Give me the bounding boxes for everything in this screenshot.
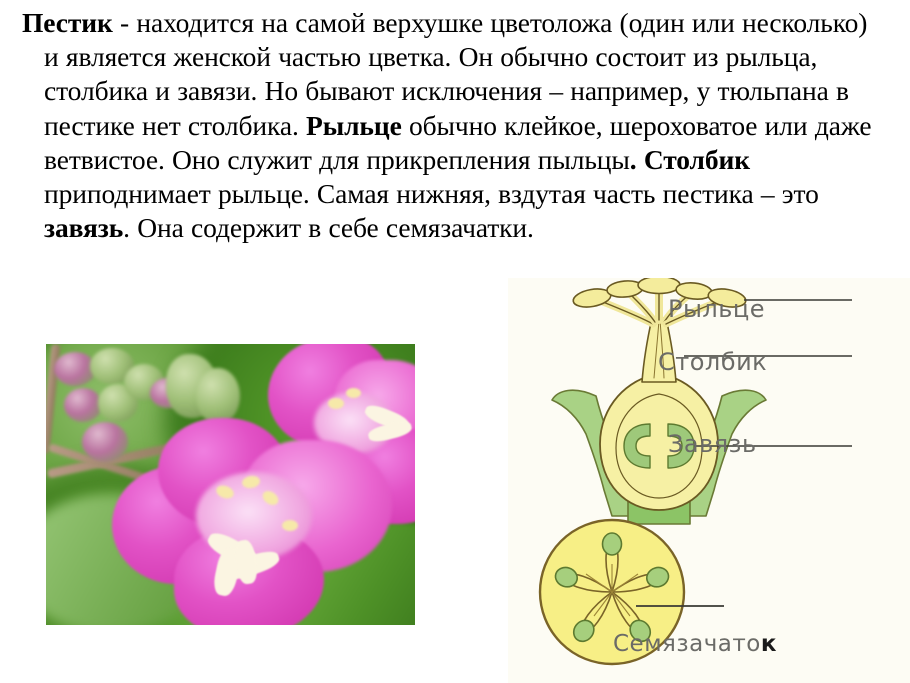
ovule-cross-section-svg — [508, 510, 910, 683]
label-ovary: Завязь — [668, 430, 757, 458]
photo-bud-3 — [64, 388, 102, 422]
label-ovule-main: Семязачато — [613, 631, 761, 657]
slide-canvas: Пестик - находится на самой верхушке цве… — [0, 0, 910, 683]
paragraph-run-2: Рыльце — [306, 110, 402, 141]
lesson-paragraph: Пестик - находится на самой верхушке цве… — [22, 6, 882, 245]
photo-bud-9 — [196, 368, 240, 424]
paragraph-run-4: . Столбик — [630, 144, 750, 175]
photo-bud-5 — [82, 422, 128, 462]
paragraph-run-7: . Она содержит в себе семязачатки. — [123, 212, 534, 243]
paragraph-run-6: завязь — [44, 212, 123, 243]
label-ovule: Семязачаток — [613, 631, 777, 657]
label-style: Столбик — [658, 348, 767, 376]
stigma-head-3 — [638, 278, 680, 294]
pistil-diagram-panel — [508, 278, 910, 683]
photo-anther-ur-2 — [346, 388, 361, 398]
photo-anther-ur-1 — [328, 398, 344, 409]
paragraph-run-0: Пестик — [22, 7, 113, 38]
paragraph-run-5: приподнимает рыльце. Самая нижняя, вздут… — [44, 178, 819, 209]
photo-anther-main-4 — [282, 520, 298, 531]
flower-photograph — [46, 344, 415, 625]
label-stigma: Рыльце — [668, 295, 765, 323]
label-ovule-tail: к — [761, 631, 777, 657]
